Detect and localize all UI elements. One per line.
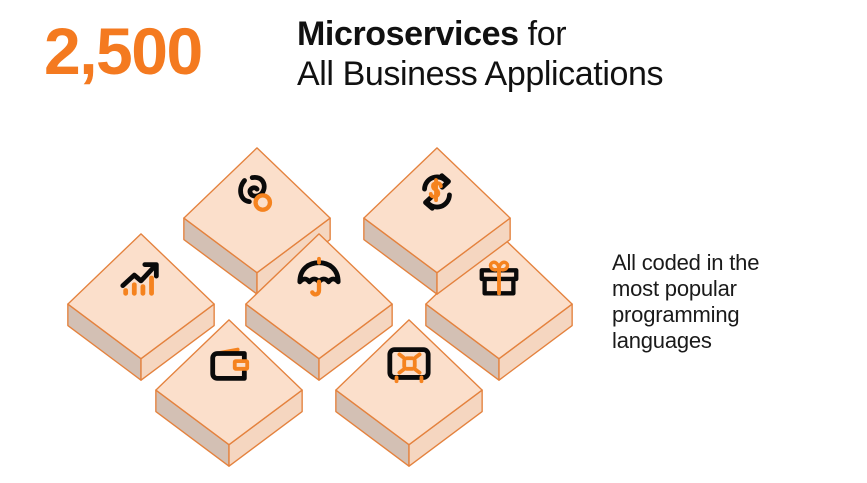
caption-line-3: programming (612, 302, 862, 328)
headline-line-2: All Business Applications (297, 54, 663, 94)
isometric-tile-cluster (40, 140, 600, 480)
side-caption: All coded in the most popular programmin… (612, 250, 862, 354)
big-number-stat: 2,500 (44, 18, 202, 84)
page-title: Microservices for All Business Applicati… (297, 14, 663, 94)
caption-line-1: All coded in the (612, 250, 862, 276)
header: 2,500 Microservices for All Business App… (0, 0, 867, 120)
caption-line-4: languages (612, 328, 862, 354)
tile-block-insurance (240, 228, 398, 386)
service-tile-insurance[interactable] (240, 228, 398, 386)
caption-line-2: most popular (612, 276, 862, 302)
headline-suffix: for (519, 15, 567, 53)
headline-emphasis: Microservices (297, 15, 519, 53)
